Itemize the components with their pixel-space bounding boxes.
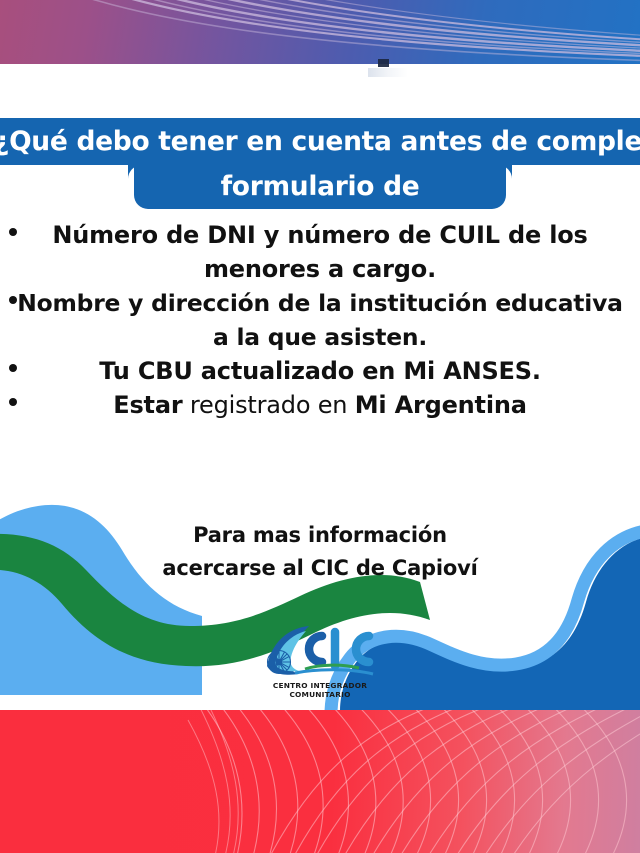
logo-base-blue: [295, 670, 373, 674]
list-item-text-bold-2: Mi Argentina: [355, 391, 527, 419]
footer-line-1: Para mas información: [0, 519, 640, 552]
list-item: Nombre y dirección de la institución edu…: [0, 286, 640, 354]
list-item: Estar registrado en Mi Argentina: [0, 388, 640, 422]
list-item-text-regular: registrado en: [182, 391, 354, 419]
bullet-dot-icon: [9, 228, 17, 236]
footer-info: Para mas información acercarse al CIC de…: [0, 519, 640, 585]
clipped-text-artifact: [378, 59, 389, 67]
list-item-text: Número de DNI y número de CUIL de los me…: [0, 218, 640, 286]
list-item-text: Tu CBU actualizado en Mi ANSES.: [0, 354, 640, 388]
list-item-text: Nombre y dirección de la institución edu…: [0, 286, 640, 354]
list-item: Número de DNI y número de CUIL de los me…: [0, 218, 640, 286]
red-band-lattice-pattern: [0, 710, 640, 853]
list-item-text-bold-1: Estar: [113, 391, 182, 419]
logo-letters: [309, 632, 369, 666]
cic-logo-mark: [261, 622, 379, 680]
bottom-red-band: [0, 710, 640, 853]
requirements-list: Número de DNI y número de CUIL de los me…: [0, 218, 640, 422]
title-line-2: formulario de inscripción?: [134, 165, 506, 209]
banner-line-pattern: [0, 0, 640, 64]
clipped-text-shadow: [368, 68, 408, 77]
cic-logo: CENTRO INTEGRADOR COMUNITARIO: [256, 622, 384, 704]
title-block: ¿Qué debo tener en cuenta antes de compl…: [0, 118, 640, 209]
bullet-dot-icon: [9, 364, 17, 372]
logo-caption-line-2: COMUNITARIO: [256, 690, 384, 699]
poster-canvas: ¿Qué debo tener en cuenta antes de compl…: [0, 0, 640, 853]
bullet-dot-icon: [9, 296, 17, 304]
footer-line-2: acercarse al CIC de Capioví: [0, 552, 640, 585]
logo-caption: CENTRO INTEGRADOR COMUNITARIO: [256, 681, 384, 700]
logo-wheel-icon: [268, 651, 291, 674]
logo-caption-line-1: CENTRO INTEGRADOR: [256, 681, 384, 690]
title-line-1: ¿Qué debo tener en cuenta antes de compl…: [0, 118, 640, 165]
top-decorative-banner: [0, 0, 640, 64]
list-item-text-mixed: Estar registrado en Mi Argentina: [0, 388, 640, 422]
bullet-dot-icon: [9, 398, 17, 406]
list-item: Tu CBU actualizado en Mi ANSES.: [0, 354, 640, 388]
